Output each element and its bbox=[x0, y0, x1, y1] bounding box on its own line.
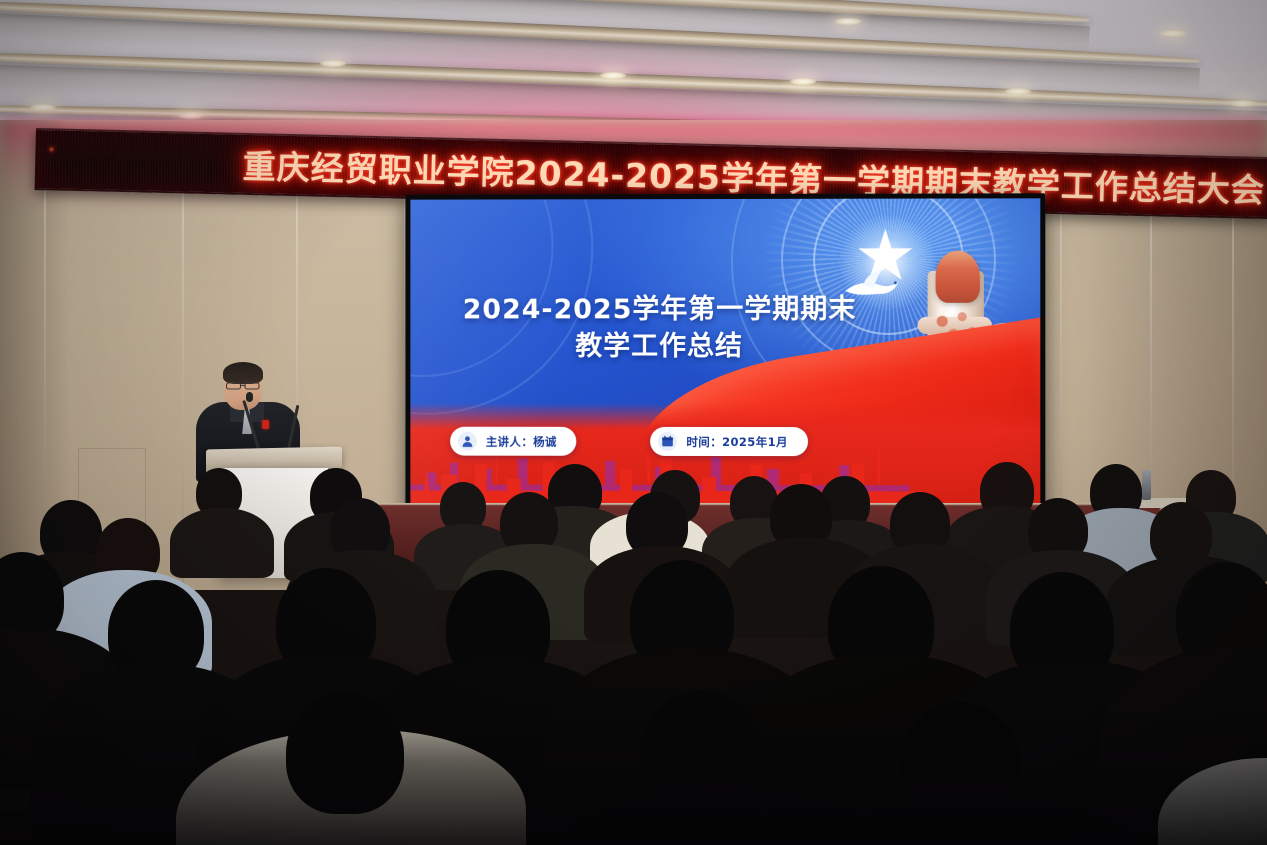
glasses-icon bbox=[226, 382, 260, 390]
slide-title-line2: 教学工作总结 bbox=[450, 328, 869, 365]
downlight-icon bbox=[1005, 88, 1031, 95]
slide-title: 2024-2025学年第一学期期末 教学工作总结 bbox=[450, 291, 869, 366]
microphone-head bbox=[246, 392, 253, 402]
slide-title-line1: 2024-2025学年第一学期期末 bbox=[463, 294, 857, 325]
speaker-hair bbox=[223, 362, 263, 384]
downlight-icon bbox=[178, 112, 204, 119]
speaker-lapel-badge bbox=[262, 420, 269, 429]
downlight-icon bbox=[1160, 30, 1186, 37]
audience bbox=[0, 440, 1267, 845]
downlight-icon bbox=[835, 18, 861, 25]
audience-head bbox=[286, 692, 404, 814]
audience-shoulders bbox=[170, 508, 274, 578]
downlight-icon bbox=[790, 78, 816, 85]
huabiao-crown bbox=[936, 251, 980, 303]
led-indicator-icon bbox=[49, 147, 53, 151]
downlight-icon bbox=[600, 72, 626, 79]
downlight-icon bbox=[30, 104, 56, 111]
conference-photo: 重庆经贸职业学院2024-2025学年第一学期期末教学工作总结大会 bbox=[0, 0, 1267, 845]
downlight-icon bbox=[320, 60, 346, 67]
downlight-icon bbox=[1230, 100, 1256, 107]
